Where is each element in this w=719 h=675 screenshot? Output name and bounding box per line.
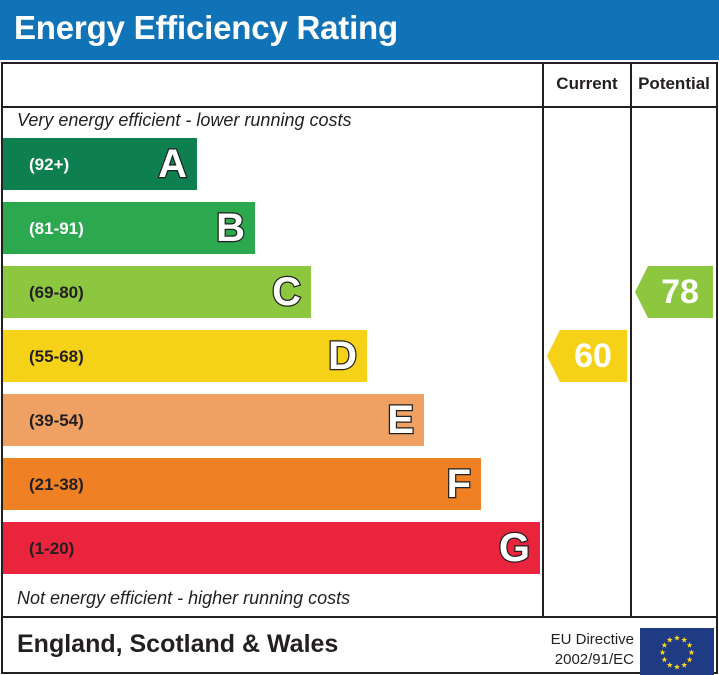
band-bar-e: (39-54)E <box>3 394 424 446</box>
current-column-divider <box>542 64 544 616</box>
potential-rating-value: 78 <box>661 275 699 309</box>
column-header-current: Current <box>544 74 630 94</box>
current-rating-marker: 60 <box>547 330 627 382</box>
band-bar-f: (21-38)F <box>3 458 481 510</box>
chart-title-bar: Energy Efficiency Rating <box>0 0 719 60</box>
caption-efficient: Very energy efficient - lower running co… <box>17 110 352 131</box>
chart-frame: Current Potential Very energy efficient … <box>1 62 718 674</box>
eu-directive-line-1: EU Directive <box>522 630 634 650</box>
band-letter-f: F <box>447 464 471 504</box>
band-bar-g: (1-20)G <box>3 522 540 574</box>
band-bar-c: (69-80)C <box>3 266 311 318</box>
footer-region-label: England, Scotland & Wales <box>17 630 338 659</box>
band-range-c: (69-80) <box>29 284 84 301</box>
current-rating-value: 60 <box>574 339 612 373</box>
eu-flag-icon <box>640 628 714 675</box>
band-range-g: (1-20) <box>29 540 74 557</box>
band-letter-e: E <box>387 400 414 440</box>
band-range-a: (92+) <box>29 156 69 173</box>
band-bar-a: (92+)A <box>3 138 197 190</box>
eu-directive-line-2: 2002/91/EC <box>522 650 634 670</box>
band-range-b: (81-91) <box>29 220 84 237</box>
potential-rating-marker: 78 <box>635 266 713 318</box>
header-row-divider <box>3 106 716 108</box>
band-letter-a: A <box>158 144 187 184</box>
band-letter-b: B <box>216 208 245 248</box>
band-bars-container: (92+)A(81-91)B(69-80)C(55-68)D(39-54)E(2… <box>3 138 542 586</box>
band-letter-d: D <box>328 336 357 376</box>
band-letter-c: C <box>272 272 301 312</box>
footer-eu-directive: EU Directive 2002/91/EC <box>522 630 634 671</box>
page-title: Energy Efficiency Rating <box>14 9 398 47</box>
band-range-f: (21-38) <box>29 476 84 493</box>
band-bar-d: (55-68)D <box>3 330 367 382</box>
caption-inefficient: Not energy efficient - higher running co… <box>17 588 350 609</box>
eu-flag-stars <box>640 628 714 675</box>
band-letter-g: G <box>499 528 530 568</box>
footer-row-divider <box>3 616 716 618</box>
energy-efficiency-rating-chart: Energy Efficiency Rating Current Potenti… <box>0 0 719 675</box>
potential-column-divider <box>630 64 632 616</box>
band-range-e: (39-54) <box>29 412 84 429</box>
column-header-potential: Potential <box>632 74 716 94</box>
band-range-d: (55-68) <box>29 348 84 365</box>
band-bar-b: (81-91)B <box>3 202 255 254</box>
